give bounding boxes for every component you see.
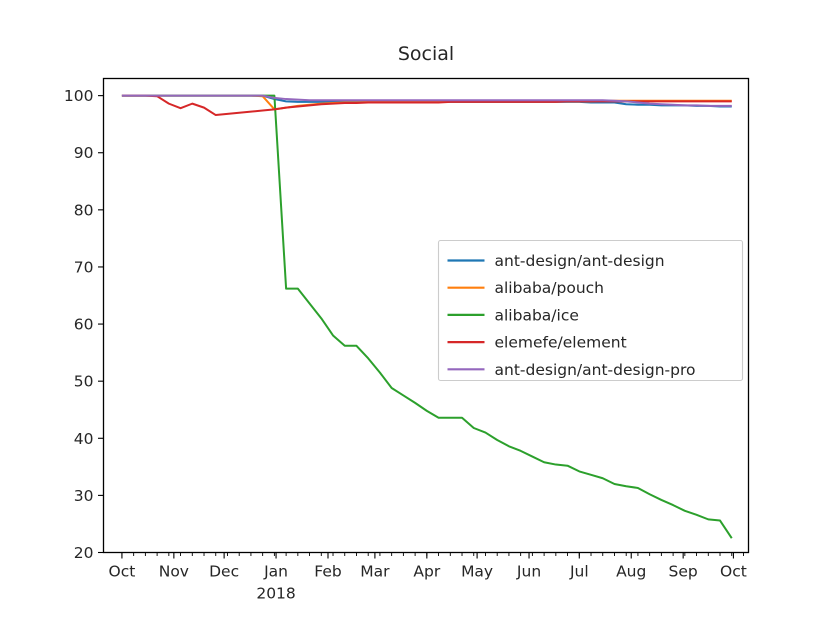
x-tick-label: Aug [616,563,646,581]
x-tick-label: Sep [669,563,698,581]
legend-label-0: ant-design/ant-design [495,252,665,270]
chart-legend: ant-design/ant-designalibaba/pouchalibab… [439,241,743,381]
x-tick-label: Jul [569,563,589,581]
x-tick-label: Oct [109,563,136,581]
y-tick-label: 20 [74,544,94,562]
x-tick-label: Jun [516,563,541,581]
x-tick-label: Mar [360,563,390,581]
x-tick-label: Nov [159,563,189,581]
y-tick-label: 50 [74,373,94,391]
x-tick-label: May [461,563,493,581]
y-tick-label: 80 [74,201,94,219]
y-tick-label: 70 [74,258,94,276]
legend-label-2: alibaba/ice [495,306,579,324]
chart-figure: Social 2030405060708090100 OctNovDecJanF… [0,0,830,622]
y-tick-label: 100 [64,87,94,105]
x-tick-label: Apr [413,563,440,581]
y-tick-label: 90 [74,144,94,162]
legend-label-1: alibaba/pouch [495,279,605,297]
y-tick-label: 30 [74,487,94,505]
x-tick-label: Dec [209,563,239,581]
chart-canvas: Social 2030405060708090100 OctNovDecJanF… [0,0,830,622]
x-axis-year-label: 2018 [256,585,295,603]
legend-label-4: ant-design/ant-design-pro [495,361,696,379]
legend-label-3: elemefe/element [495,334,627,352]
y-tick-label: 60 [74,316,94,334]
x-tick-label: Feb [314,563,341,581]
x-tick-label: Jan [263,563,288,581]
y-tick-label: 40 [74,430,94,448]
x-axis-year-label-text: 2018 [256,585,295,603]
chart-title: Social [398,43,454,65]
x-tick-label: Oct [720,563,747,581]
